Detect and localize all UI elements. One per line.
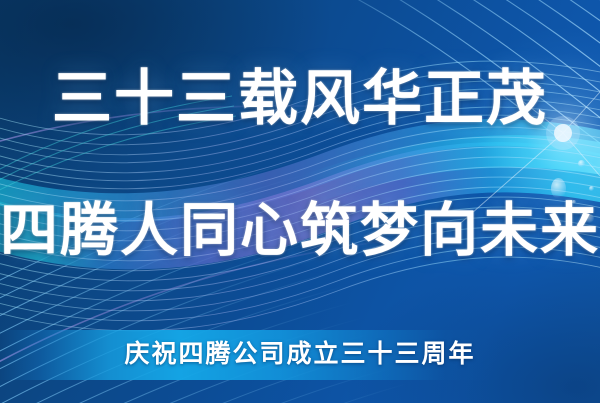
headline-block: 三十三载风华正茂 四腾人同心筑梦向未来 庆祝四腾公司成立三十三周年 bbox=[0, 0, 600, 403]
headline-line-1: 三十三载风华正茂 bbox=[0, 62, 600, 136]
anniversary-banner: 三十三载风华正茂 四腾人同心筑梦向未来 庆祝四腾公司成立三十三周年 bbox=[0, 0, 600, 403]
subtitle-text: 庆祝四腾公司成立三十三周年 bbox=[0, 336, 600, 374]
headline-line-2: 四腾人同心筑梦向未来 bbox=[0, 196, 600, 266]
